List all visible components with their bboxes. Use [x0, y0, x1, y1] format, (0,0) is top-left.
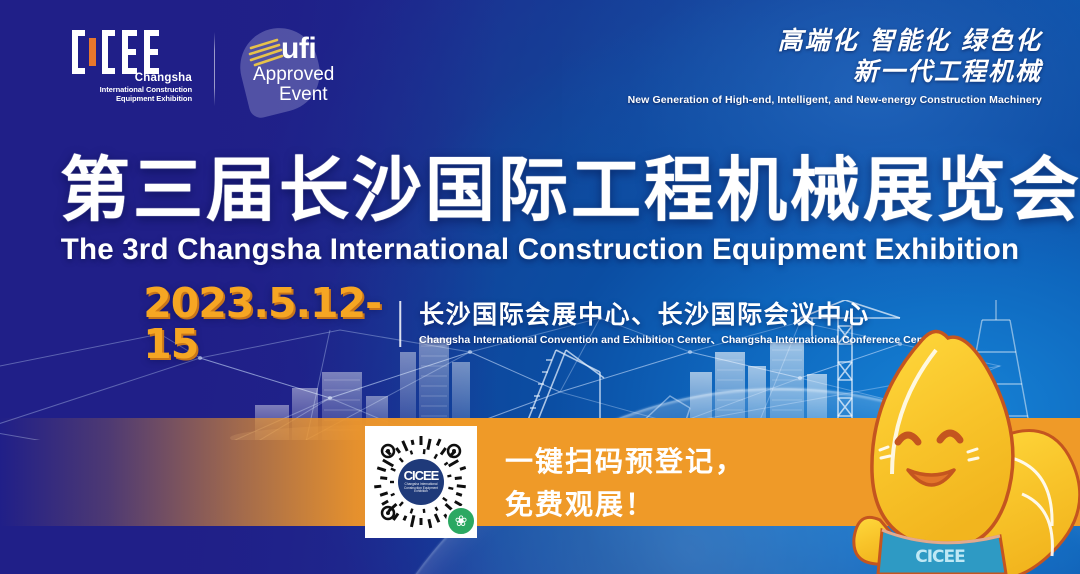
- slogan-line-2: 新一代工程机械: [628, 57, 1042, 88]
- cicee-logo-wordmark: Changsha International Construction Equi…: [100, 72, 192, 103]
- event-title-chinese: 第三届长沙国际工程机械展览会: [60, 155, 1020, 225]
- event-promo-banner: Changsha International Construction Equi…: [0, 0, 1080, 574]
- qr-center-sub-label: Changsha International Construction Equi…: [398, 483, 444, 495]
- ufi-wordmark: ufi: [281, 34, 316, 64]
- slogan-english: New Generation of High-end, Intelligent,…: [628, 94, 1042, 106]
- qr-center-mark-label: CICEE: [404, 470, 439, 481]
- info-separator: [400, 301, 402, 347]
- cicee-city-label: Changsha: [100, 72, 192, 86]
- cta-line-2: 免费观展！: [505, 483, 745, 526]
- slogan-line-1: 高端化 智能化 绿色化: [628, 26, 1042, 57]
- event-info-row: 2023.5.12-15 长沙国际会展中心、长沙国际会议中心 Changsha …: [143, 283, 936, 365]
- ufi-event-label: Event: [279, 85, 328, 104]
- ufi-approved-event-badge[interactable]: ufi Approved Event: [237, 26, 349, 112]
- qr-center-logo: CICEE Changsha International Constructio…: [398, 459, 444, 505]
- header-logo-group: Changsha International Construction Equi…: [72, 26, 349, 112]
- qr-code-card[interactable]: CICEE Changsha International Constructio…: [365, 426, 477, 538]
- wechat-miniprogram-icon: ❀: [446, 506, 476, 536]
- qr-code-graphic: CICEE Changsha International Constructio…: [368, 429, 474, 535]
- cta-text-block: 一键扫码预登记， 免费观展！: [505, 440, 745, 527]
- event-title-english: The 3rd Changsha International Construct…: [45, 233, 1035, 267]
- cicee-logo-mark: [72, 30, 190, 74]
- header-divider: [214, 32, 215, 106]
- event-date: 2023.5.12-15: [143, 283, 381, 365]
- mascot-outfit-label: CICEE: [915, 547, 965, 567]
- cta-line-1: 一键扫码预登记，: [505, 440, 745, 483]
- cicee-line3-label: Equipment Exhibition: [100, 95, 192, 104]
- ufi-approved-label: Approved: [253, 65, 334, 84]
- cicee-logo[interactable]: Changsha International Construction Equi…: [72, 30, 192, 108]
- mascot-character: CICEE: [836, 324, 1080, 574]
- slogan-block: 高端化 智能化 绿色化 新一代工程机械 New Generation of Hi…: [628, 26, 1042, 106]
